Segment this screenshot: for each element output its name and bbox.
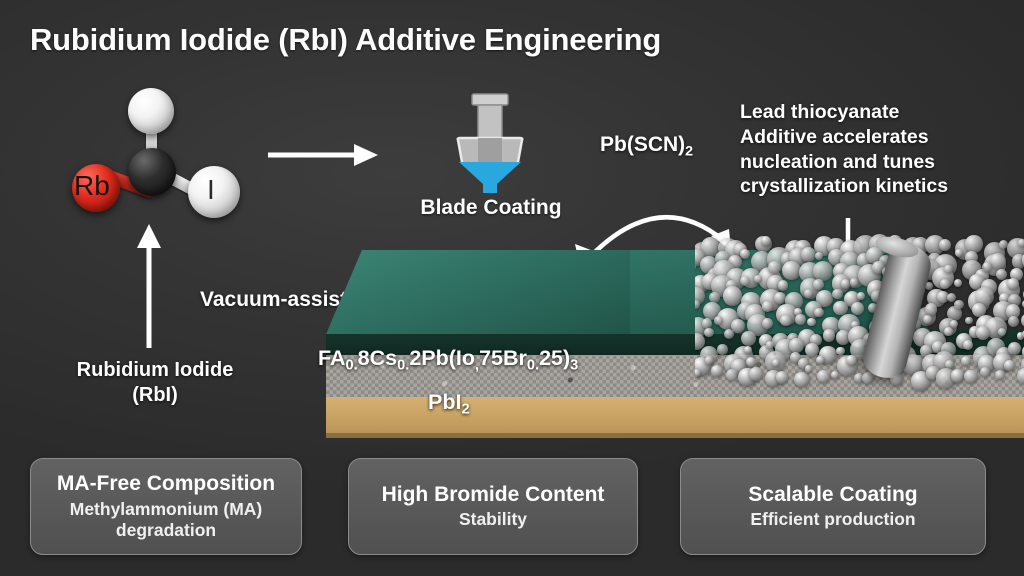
crystal-grain [961,356,971,366]
crystal-grain [832,289,842,299]
crystal-grain [816,356,824,364]
additive-formula-text: Pb(SCN) [600,133,685,156]
substrate-edge [326,433,1024,438]
crystal-grain [801,247,816,262]
additive-formula-subscript: 2 [685,144,693,160]
formula-part-5: 25) [539,346,570,370]
benefit-card-scalable[interactable]: Scalable Coating Efficient production [680,458,986,555]
crystal-grain [1008,316,1020,328]
benefit-card-bromide[interactable]: High Bromide Content Stability [348,458,638,555]
crystal-grain [990,253,1006,269]
crystal-grain [963,340,973,350]
crystal-grain [714,316,723,325]
crystal-grain [954,279,962,287]
crystal-grain [836,347,845,356]
atom-label-rb: Rb [74,172,110,200]
crystal-grain [814,308,823,317]
crystal-grain [944,327,953,336]
crystal-grain [741,331,756,346]
page-title: Rubidium Iodide (RbI) Additive Engineeri… [30,22,661,58]
crystal-grain [823,329,835,341]
formula-part-2: 8Cs [358,346,397,370]
crystal-grain [815,252,823,260]
additive-description: Lead thiocyanate Additive accelerates nu… [740,100,1015,199]
crystal-grain [695,300,700,309]
crystal-grain [1007,278,1019,290]
atom-label-i: I [207,176,215,204]
crystal-grain [749,367,763,381]
crystal-grain [695,369,701,377]
crystal-grain [862,372,874,384]
crystal-grain [982,262,992,272]
arrow-up-rbi [134,222,164,348]
crystal-grain [850,278,858,286]
crystal-grain [976,326,990,340]
crystal-grain [939,239,951,251]
additive-description-line1: Lead thiocyanate [740,100,1015,125]
benefit-card-ma-free[interactable]: MA-Free Composition Methylammonium (MA) … [30,458,302,555]
crystal-grain [776,371,789,384]
formula-sub-5: 3 [570,358,578,374]
crystal-grain [995,370,1005,380]
crystal-grain [807,318,815,326]
crystal-grain [695,263,696,271]
crystal-grain [944,265,952,273]
additive-description-line2: Additive accelerates [740,125,1015,150]
crystal-grain [841,279,851,289]
crystal-grain [851,302,864,315]
benefit-card-subtitle: Methylammonium (MA) degradation [41,499,291,541]
crystal-grain [740,249,750,259]
atom-hydrogen-top [128,88,174,134]
crystal-grain [817,370,830,383]
crystal-grain [965,317,973,325]
crystal-grain [754,275,762,283]
pbi2-subscript: 2 [461,402,469,418]
crystal-grain [778,280,788,290]
crystal-grain [923,315,932,324]
additive-formula-label: Pb(SCN)2 [600,133,693,160]
formula-part-1: FA [318,346,345,370]
benefit-card-title: High Bromide Content [382,483,605,507]
crystal-grain [717,344,727,354]
crystal-grain [831,371,839,379]
slide-canvas: Rubidium Iodide (RbI) Additive Engineeri… [0,0,1024,576]
crystal-grain [780,315,792,327]
crystal-grain [805,365,813,373]
blade-coating-caption: Blade Coating [396,196,586,220]
perovskite-formula-label: FA0.8Cs0.2Pb(Io,75Br0.25)3 [318,346,578,374]
formula-sub-2: 0. [397,358,409,374]
crystal-grain [774,292,786,304]
benefit-card-subtitle: Stability [459,509,527,530]
crystal-grain [762,301,773,312]
crystal-grain [998,328,1007,337]
benefit-card-title: Scalable Coating [748,483,917,507]
rbi-caption-line2: (RbI) [55,383,255,408]
crystal-grain [724,329,734,339]
crystal-grain [965,235,982,252]
formula-sub-1: 0. [345,358,357,374]
crystal-grain [762,318,773,329]
benefit-card-title: MA-Free Composition [57,472,275,496]
crystal-grain-field [695,234,1024,394]
crystal-grain [954,300,964,310]
pbi2-text: PbI [428,390,461,414]
crystal-grain [1008,342,1021,355]
crystal-grain [925,303,938,316]
crystal-grain [794,372,809,387]
additive-description-line3: nucleation and tunes [740,150,1015,175]
crystal-grain [726,369,738,381]
additive-description-line4: crystallization kinetics [740,174,1015,199]
crystal-grain [711,365,723,377]
pbi2-formula-label: PbI2 [428,390,470,418]
blade-coating-icon [440,92,540,197]
arrow-right-to-blade [268,140,380,170]
crystal-grain [805,343,820,358]
benefit-card-subtitle: Efficient production [750,509,915,530]
formula-part-4: 75Br [479,346,527,370]
benefit-cards: MA-Free Composition Methylammonium (MA) … [0,458,1024,568]
crystal-grain [1004,360,1015,371]
device-stack-scene [300,230,1024,445]
crystal-grain [833,301,848,316]
crystal-grain [704,328,714,338]
rbi-caption-line1: Rubidium Iodide [55,358,255,383]
crystal-grain [980,367,990,377]
crystal-grain [940,279,950,289]
crystal-grain [1018,239,1024,247]
rubidium-iodide-caption: Rubidium Iodide (RbI) [55,358,255,408]
crystal-grain [964,370,977,383]
atom-carbon-center [128,148,176,196]
crystal-grain [857,292,865,300]
crystal-grain [789,338,804,353]
crystal-grain [951,369,965,383]
formula-sub-4: 0. [527,358,539,374]
crystal-grain [768,261,781,274]
formula-part-3: 2Pb(Io [409,346,475,370]
crystal-grain [766,341,774,349]
crystal-grain [746,357,757,368]
crystal-grain [813,279,824,290]
crystal-grain [705,356,714,365]
crystal-grain [723,286,742,305]
crystal-grain [1017,368,1024,385]
crystal-grain [795,314,806,325]
